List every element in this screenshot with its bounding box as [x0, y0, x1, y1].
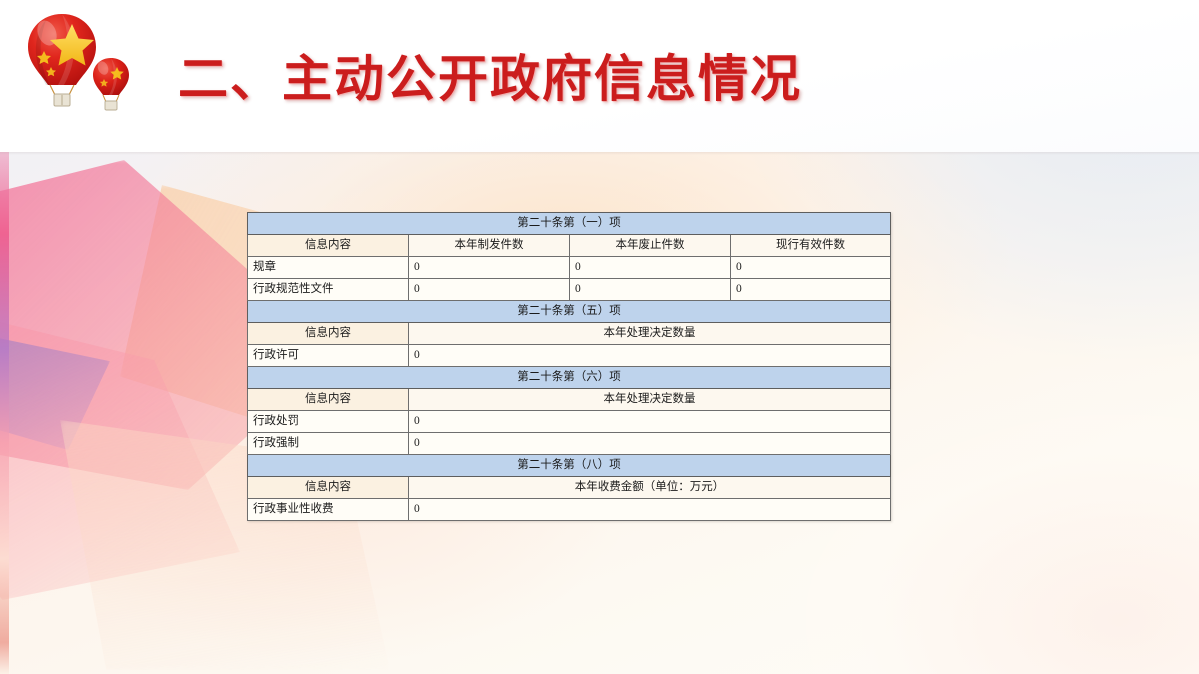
table-column-header-info: 信息内容	[248, 477, 409, 499]
government-information-disclosure-table: 第二十条第（一）项信息内容本年制发件数本年废止件数现行有效件数规章000行政规范…	[247, 212, 891, 521]
table-section-title: 第二十条第（六）项	[248, 367, 891, 389]
table-section-title: 第二十条第（五）项	[248, 301, 891, 323]
table-section-header-row: 第二十条第（八）项	[248, 455, 891, 477]
background-left-edge-strip	[0, 150, 9, 674]
table-row: 行政处罚0	[248, 411, 891, 433]
table-section-header-row: 第二十条第（五）项	[248, 301, 891, 323]
table-cell-value: 0	[409, 257, 570, 279]
header-band-shadow	[0, 152, 1199, 155]
table-row-label: 行政规范性文件	[248, 279, 409, 301]
table-row-label: 行政事业性收费	[248, 499, 409, 521]
table-column-header-row: 信息内容本年收费金额（单位：万元）	[248, 477, 891, 499]
table-cell-value: 0	[409, 411, 891, 433]
table-column-header: 现行有效件数	[731, 235, 891, 257]
table-column-header: 本年处理决定数量	[409, 323, 891, 345]
table-section-title: 第二十条第（八）项	[248, 455, 891, 477]
background-facet-pink	[0, 300, 240, 600]
table-column-header-row: 信息内容本年处理决定数量	[248, 389, 891, 411]
table-row-label: 行政强制	[248, 433, 409, 455]
table-section-header-row: 第二十条第（一）项	[248, 213, 891, 235]
report-table-container: 第二十条第（一）项信息内容本年制发件数本年废止件数现行有效件数规章000行政规范…	[247, 212, 890, 521]
table-column-header-info: 信息内容	[248, 389, 409, 411]
table-row-label: 行政许可	[248, 345, 409, 367]
table-column-header-row: 信息内容本年处理决定数量	[248, 323, 891, 345]
table-section-header-row: 第二十条第（六）项	[248, 367, 891, 389]
table-column-header: 本年处理决定数量	[409, 389, 891, 411]
slide-canvas: 二、主动公开政府信息情况 第二十条第（一）项信息内容本年制发件数本年废止件数现行…	[0, 0, 1199, 674]
table-row-label: 行政处罚	[248, 411, 409, 433]
table-column-header-info: 信息内容	[248, 323, 409, 345]
table-row-label: 规章	[248, 257, 409, 279]
table-cell-value: 0	[731, 279, 891, 301]
page-title: 二、主动公开政府信息情况	[178, 54, 802, 104]
table-cell-value: 0	[409, 279, 570, 301]
table-section-title: 第二十条第（一）项	[248, 213, 891, 235]
table-row: 行政许可0	[248, 345, 891, 367]
table-row: 行政规范性文件000	[248, 279, 891, 301]
table-column-header: 本年废止件数	[570, 235, 731, 257]
table-column-header-info: 信息内容	[248, 235, 409, 257]
table-cell-value: 0	[409, 433, 891, 455]
hot-air-balloon-logo	[24, 12, 136, 116]
table-row: 行政强制0	[248, 433, 891, 455]
table-cell-value: 0	[570, 279, 731, 301]
table-cell-value: 0	[409, 345, 891, 367]
table-column-header: 本年制发件数	[409, 235, 570, 257]
table-cell-value: 0	[409, 499, 891, 521]
table-column-header: 本年收费金额（单位：万元）	[409, 477, 891, 499]
table-cell-value: 0	[731, 257, 891, 279]
table-cell-value: 0	[570, 257, 731, 279]
table-column-header-row: 信息内容本年制发件数本年废止件数现行有效件数	[248, 235, 891, 257]
table-row: 规章000	[248, 257, 891, 279]
background-facet-purple	[0, 330, 110, 450]
table-row: 行政事业性收费0	[248, 499, 891, 521]
